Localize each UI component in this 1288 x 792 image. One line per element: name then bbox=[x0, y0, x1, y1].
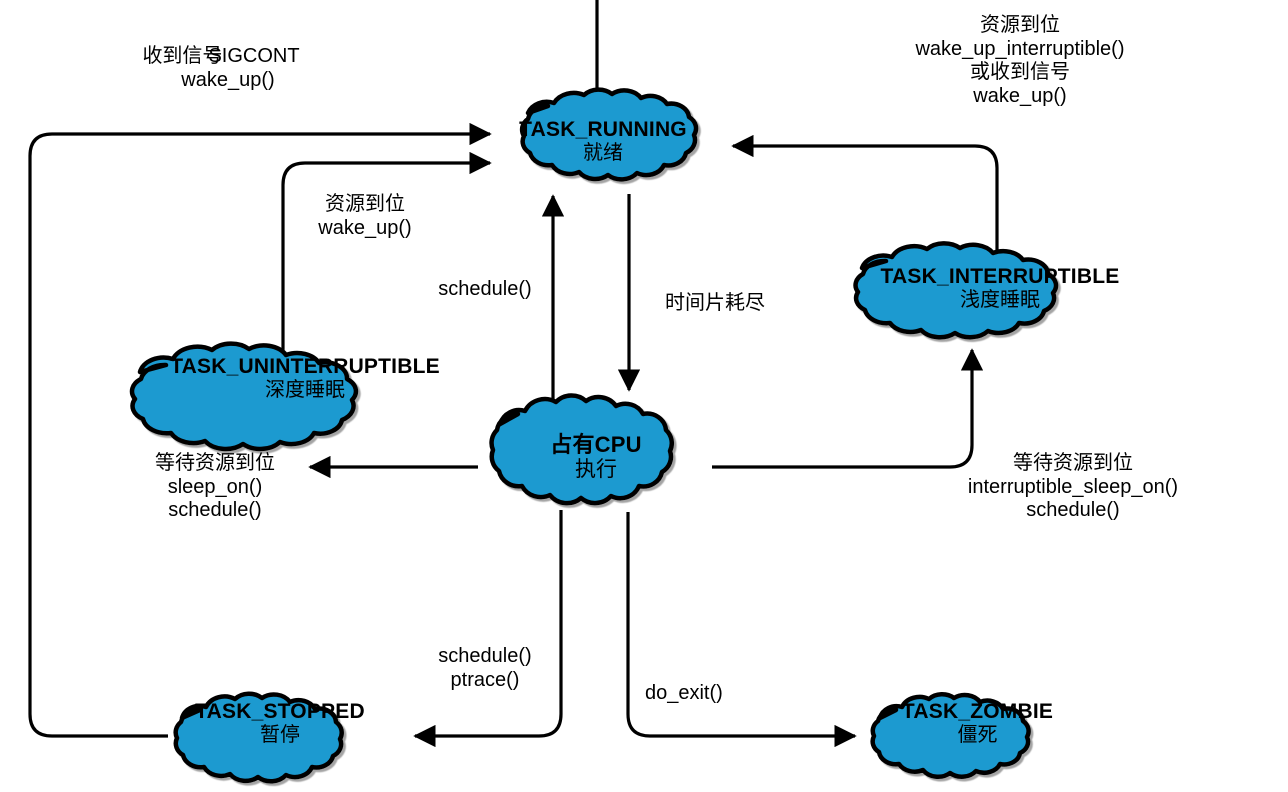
node-zombie[interactable] bbox=[873, 694, 1029, 777]
node-uninterruptible[interactable] bbox=[132, 344, 356, 449]
edge-cpu-to-interruptible bbox=[712, 350, 972, 467]
edge-cpu-to-zombie bbox=[628, 512, 855, 736]
node-cpu[interactable] bbox=[492, 395, 672, 503]
node-running[interactable] bbox=[522, 90, 696, 180]
node-stopped[interactable] bbox=[176, 694, 342, 782]
edge-cpu-to-stopped bbox=[415, 510, 561, 736]
diagram-canvas: TASK_RUNNING 就绪 TASK_INTERRUPTIBLE 浅度睡眠 … bbox=[0, 0, 1288, 792]
node-interruptible[interactable] bbox=[856, 243, 1056, 337]
state-diagram-svg bbox=[0, 0, 1288, 792]
edge-uninterruptible-to-running bbox=[283, 163, 490, 372]
cloud-nodes bbox=[132, 90, 1056, 782]
